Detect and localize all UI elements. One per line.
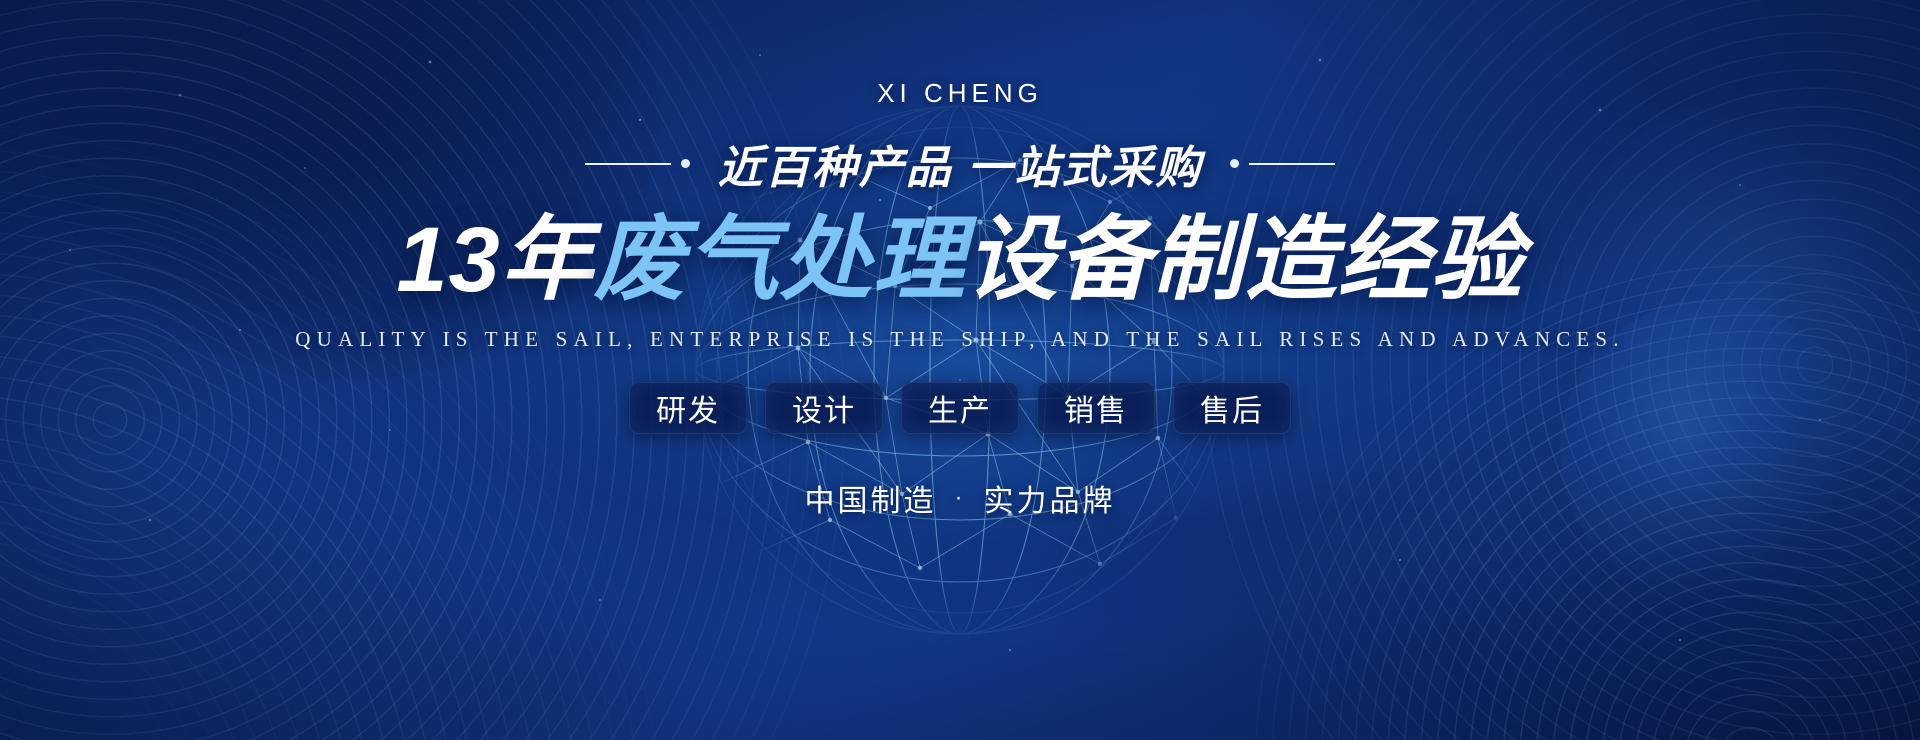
service-pill-produce[interactable]: 生产 [901,382,1019,434]
headline: 13年废气处理设备制造经验 [396,210,1523,311]
decorative-line-right [1230,159,1335,168]
banner-content: XI CHENG 近百种产品 一站式采购 13年废气处理设备制造经验 QUALI… [0,0,1920,740]
footer-separator-dot: · [955,484,966,512]
subline-text: 近百种产品 一站式采购 [718,131,1203,196]
service-pill-design[interactable]: 设计 [765,382,883,434]
brand-name-english: XI CHENG [877,78,1043,109]
headline-part-1: 13年 [396,209,593,311]
hero-banner: XI CHENG 近百种产品 一站式采购 13年废气处理设备制造经验 QUALI… [0,0,1920,740]
service-pill-sales[interactable]: 销售 [1037,382,1155,434]
subline-row: 近百种产品 一站式采购 [585,131,1336,196]
tagline-english: QUALITY IS THE SAIL, ENTERPRISE IS THE S… [295,327,1625,352]
service-pill-after-sales[interactable]: 售后 [1173,382,1291,434]
headline-part-2-highlight: 废气处理 [594,209,966,311]
service-pill-rd[interactable]: 研发 [629,382,747,434]
footer-slogan-right: 实力品牌 [984,476,1116,520]
footer-slogan-left: 中国制造 [805,476,937,520]
decorative-line-left [585,159,690,168]
headline-part-3: 设备制造经验 [966,209,1524,311]
service-pill-list: 研发 设计 生产 销售 售后 [629,382,1291,434]
footer-slogan: 中国制造 · 实力品牌 [805,476,1116,520]
